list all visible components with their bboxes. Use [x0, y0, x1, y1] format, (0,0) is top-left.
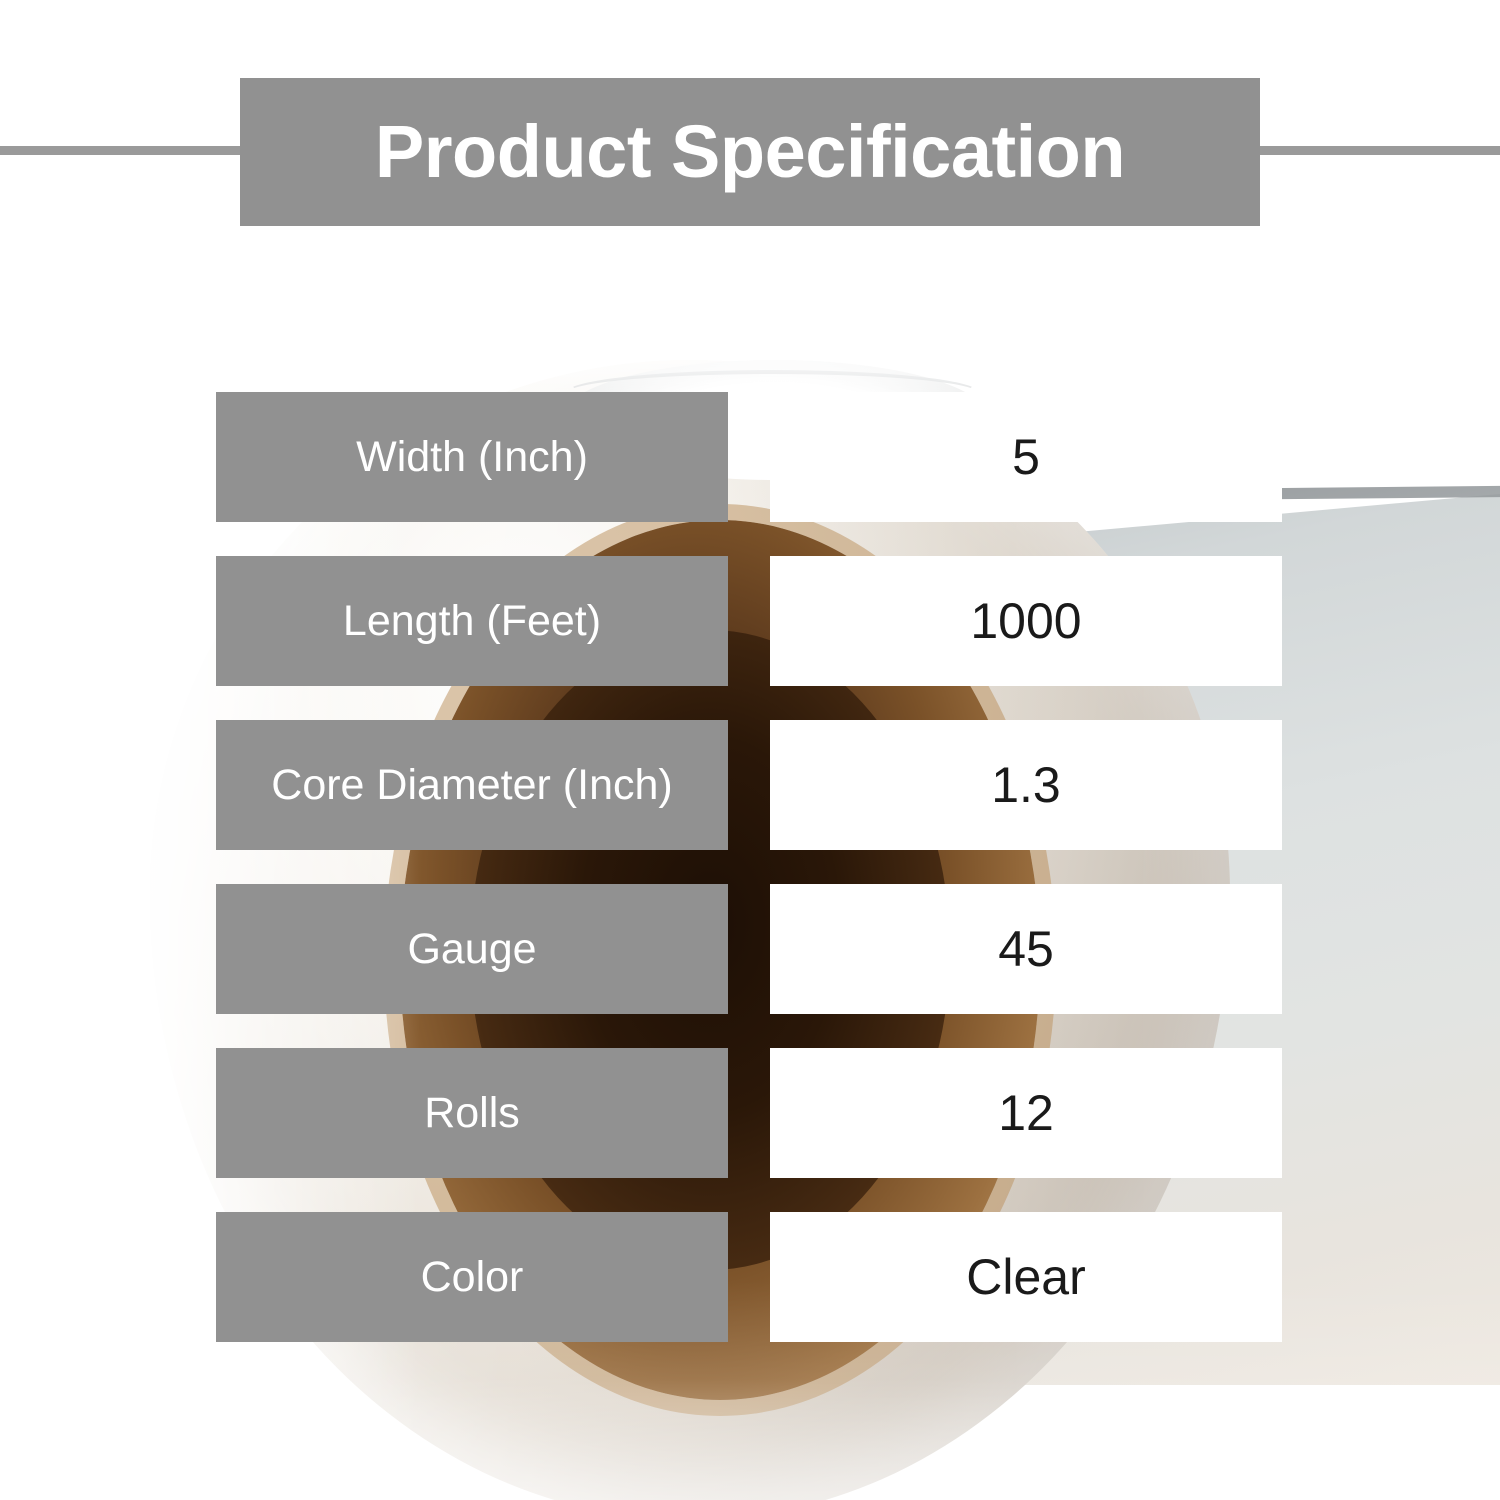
title-banner: Product Specification [240, 78, 1260, 226]
spec-value-text: 45 [998, 923, 1054, 976]
header-rule-right [1258, 146, 1500, 155]
spec-label-color: Color [216, 1212, 728, 1342]
spec-label-length: Length (Feet) [216, 556, 728, 686]
spec-row-length: Length (Feet) 1000 [0, 556, 1500, 686]
spec-label-text: Core Diameter (Inch) [271, 762, 672, 808]
spec-label-width: Width (Inch) [216, 392, 728, 522]
spec-value-text: 5 [1012, 431, 1040, 484]
spec-label-text: Gauge [407, 926, 536, 972]
spec-label-core-diameter: Core Diameter (Inch) [216, 720, 728, 850]
spec-label-rolls: Rolls [216, 1048, 728, 1178]
spec-value-color: Clear [770, 1212, 1282, 1342]
product-specification-page: Product Specification Width (Inch) 5 Len… [0, 0, 1500, 1500]
spec-label-text: Color [421, 1254, 524, 1300]
spec-value-rolls: 12 [770, 1048, 1282, 1178]
header: Product Specification [0, 0, 1500, 310]
spec-label-text: Length (Feet) [343, 598, 601, 644]
spec-value-length: 1000 [770, 556, 1282, 686]
spec-value-text: 1.3 [991, 759, 1061, 812]
spec-value-core-diameter: 1.3 [770, 720, 1282, 850]
spec-value-text: Clear [966, 1251, 1085, 1304]
specification-table: Width (Inch) 5 Length (Feet) 1000 Core D… [0, 392, 1500, 1342]
spec-label-text: Rolls [424, 1090, 520, 1136]
spec-value-text: 12 [998, 1087, 1054, 1140]
spec-row-rolls: Rolls 12 [0, 1048, 1500, 1178]
spec-row-core-diameter: Core Diameter (Inch) 1.3 [0, 720, 1500, 850]
page-title: Product Specification [375, 115, 1125, 189]
header-rule-left [0, 146, 246, 155]
spec-label-gauge: Gauge [216, 884, 728, 1014]
spec-row-gauge: Gauge 45 [0, 884, 1500, 1014]
spec-value-width: 5 [770, 392, 1282, 522]
spec-value-gauge: 45 [770, 884, 1282, 1014]
spec-row-color: Color Clear [0, 1212, 1500, 1342]
spec-label-text: Width (Inch) [356, 434, 588, 480]
spec-value-text: 1000 [970, 595, 1081, 648]
spec-row-width: Width (Inch) 5 [0, 392, 1500, 522]
